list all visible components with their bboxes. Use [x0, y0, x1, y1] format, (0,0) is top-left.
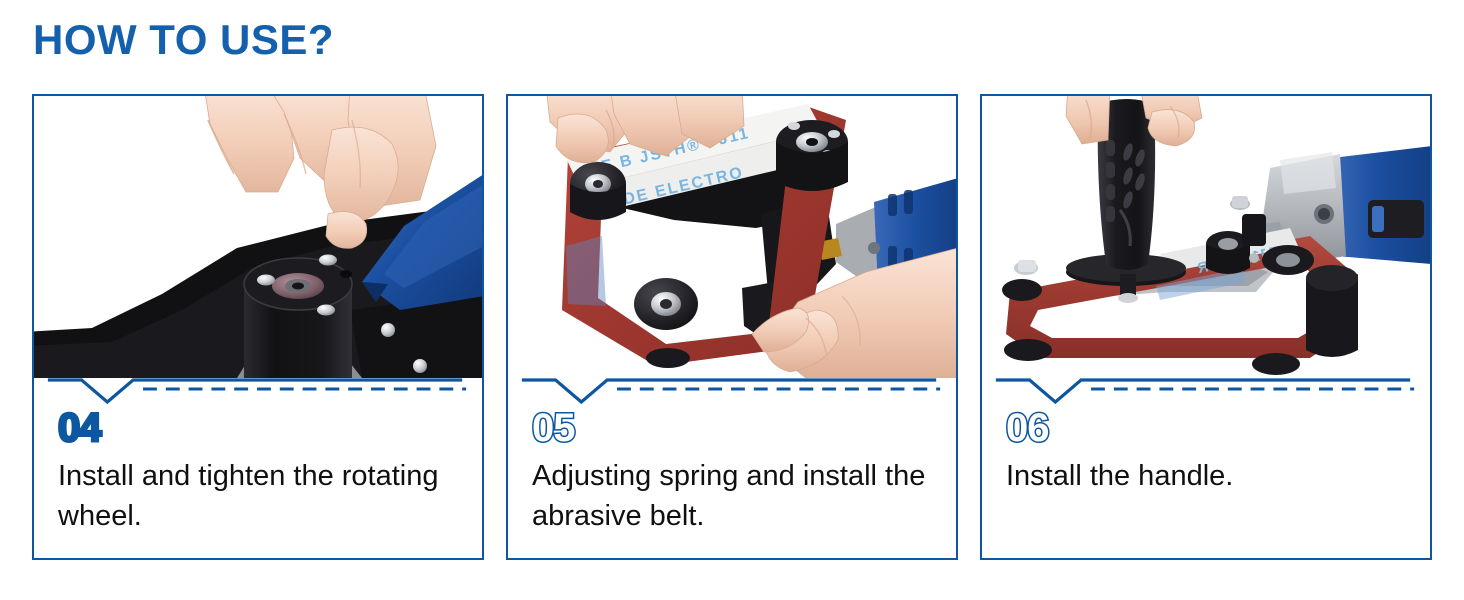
step-text-06: Install the handle. [1006, 456, 1416, 496]
step-card-06: TJ113 (JIR [980, 94, 1432, 560]
divider-mark-06 [982, 374, 1430, 408]
photo-step-06: TJ113 (JIR [982, 96, 1430, 378]
photo-step-04 [34, 96, 482, 378]
caption-06: 06 Install the handle. [1006, 406, 1416, 496]
step-number-04: 04 [58, 406, 468, 450]
step-text-05: Adjusting spring and install the abrasiv… [532, 456, 942, 536]
divider-graphic [508, 374, 956, 408]
step-number-06: 06 [1006, 406, 1416, 450]
step-number-05: 05 [532, 406, 942, 450]
divider-graphic [982, 374, 1430, 408]
divider-graphic [34, 374, 482, 408]
step-text-04: Install and tighten the rotating wheel. [58, 456, 468, 536]
photo-step-05: IVE B JSTH® TJ11 OXIDE ELECTRO [508, 96, 956, 378]
step-card-04: 04 Install and tighten the rotating whee… [32, 94, 484, 560]
divider-mark-04 [34, 374, 482, 408]
photo-step-04-graphic [34, 96, 482, 378]
how-to-use-infographic: HOW TO USE? [0, 0, 1464, 600]
divider-mark-05 [508, 374, 956, 408]
photo-step-06-graphic: TJ113 (JIR [982, 96, 1430, 378]
steps-row: 04 Install and tighten the rotating whee… [32, 94, 1432, 562]
caption-05: 05 Adjusting spring and install the abra… [532, 406, 942, 536]
step-card-05: IVE B JSTH® TJ11 OXIDE ELECTRO [506, 94, 958, 560]
caption-04: 04 Install and tighten the rotating whee… [58, 406, 468, 536]
photo-step-05-graphic: IVE B JSTH® TJ11 OXIDE ELECTRO [508, 96, 956, 378]
page-title: HOW TO USE? [33, 14, 334, 66]
